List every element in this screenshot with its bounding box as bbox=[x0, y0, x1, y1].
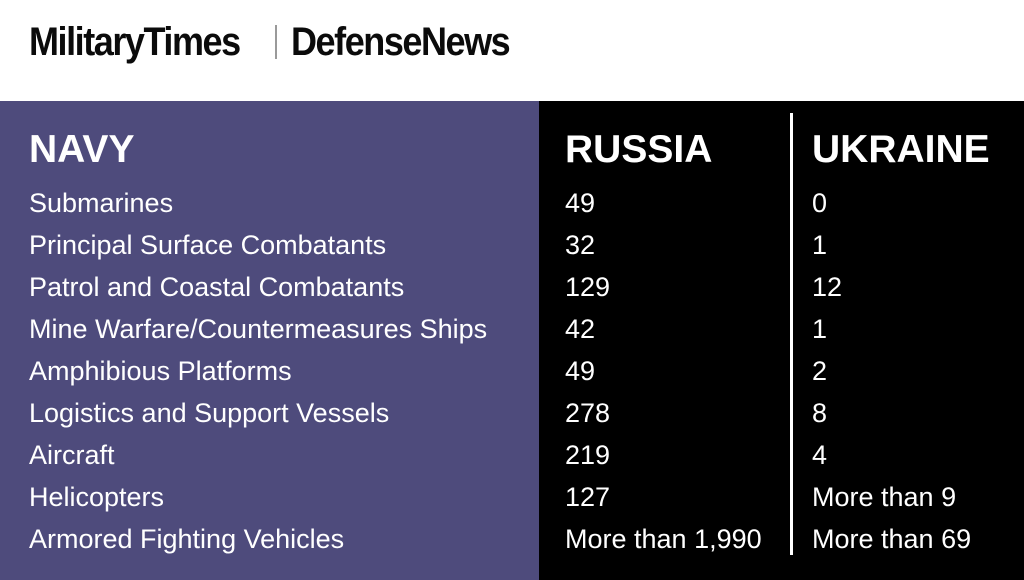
cell-russia: 219 bbox=[565, 437, 610, 473]
cell-ukraine: 1 bbox=[812, 311, 827, 347]
cell-ukraine: 0 bbox=[812, 185, 827, 221]
row-label: Helicopters bbox=[29, 479, 164, 515]
row-label: Logistics and Support Vessels bbox=[29, 395, 389, 431]
row-label: Principal Surface Combatants bbox=[29, 227, 386, 263]
cell-russia: More than 1,990 bbox=[565, 521, 762, 557]
vertical-rule-icon bbox=[275, 25, 277, 59]
row-label: Submarines bbox=[29, 185, 173, 221]
row-label: Mine Warfare/Countermeasures Ships bbox=[29, 311, 487, 347]
cell-russia: 42 bbox=[565, 311, 595, 347]
cell-russia: 127 bbox=[565, 479, 610, 515]
column-header-russia: RUSSIA bbox=[565, 130, 712, 169]
table-row: Patrol and Coastal Combatants12912 bbox=[0, 269, 1024, 311]
row-label: Amphibious Platforms bbox=[29, 353, 292, 389]
table-row: Armored Fighting VehiclesMore than 1,990… bbox=[0, 521, 1024, 563]
cell-russia: 32 bbox=[565, 227, 595, 263]
row-label: Aircraft bbox=[29, 437, 115, 473]
cell-ukraine: 12 bbox=[812, 269, 842, 305]
cell-ukraine: 4 bbox=[812, 437, 827, 473]
table-row: Aircraft2194 bbox=[0, 437, 1024, 479]
cell-russia: 129 bbox=[565, 269, 610, 305]
brand-defensenews: DefenseNews bbox=[291, 22, 509, 62]
infographic-root: MilitaryTimes DefenseNews NAVY RUSSIA UK… bbox=[0, 0, 1024, 580]
table-row: Submarines490 bbox=[0, 185, 1024, 227]
masthead: MilitaryTimes DefenseNews bbox=[0, 0, 1024, 101]
cell-ukraine: More than 9 bbox=[812, 479, 956, 515]
branch-title: NAVY bbox=[29, 130, 134, 169]
brand-lockup: MilitaryTimes DefenseNews bbox=[29, 22, 534, 62]
row-label: Armored Fighting Vehicles bbox=[29, 521, 344, 557]
table-body: Submarines490Principal Surface Combatant… bbox=[0, 185, 1024, 563]
cell-ukraine: 2 bbox=[812, 353, 827, 389]
cell-ukraine: 1 bbox=[812, 227, 827, 263]
table-row: Mine Warfare/Countermeasures Ships421 bbox=[0, 311, 1024, 353]
brand-militarytimes: MilitaryTimes bbox=[29, 22, 240, 62]
row-label: Patrol and Coastal Combatants bbox=[29, 269, 404, 305]
comparison-table: NAVY RUSSIA UKRAINE Submarines490Princip… bbox=[0, 101, 1024, 580]
table-row: Helicopters127More than 9 bbox=[0, 479, 1024, 521]
table-row: Principal Surface Combatants321 bbox=[0, 227, 1024, 269]
table-row: Logistics and Support Vessels2788 bbox=[0, 395, 1024, 437]
table-row: Amphibious Platforms492 bbox=[0, 353, 1024, 395]
cell-ukraine: More than 69 bbox=[812, 521, 971, 557]
cell-russia: 278 bbox=[565, 395, 610, 431]
cell-ukraine: 8 bbox=[812, 395, 827, 431]
column-header-ukraine: UKRAINE bbox=[812, 130, 990, 169]
cell-russia: 49 bbox=[565, 185, 595, 221]
cell-russia: 49 bbox=[565, 353, 595, 389]
